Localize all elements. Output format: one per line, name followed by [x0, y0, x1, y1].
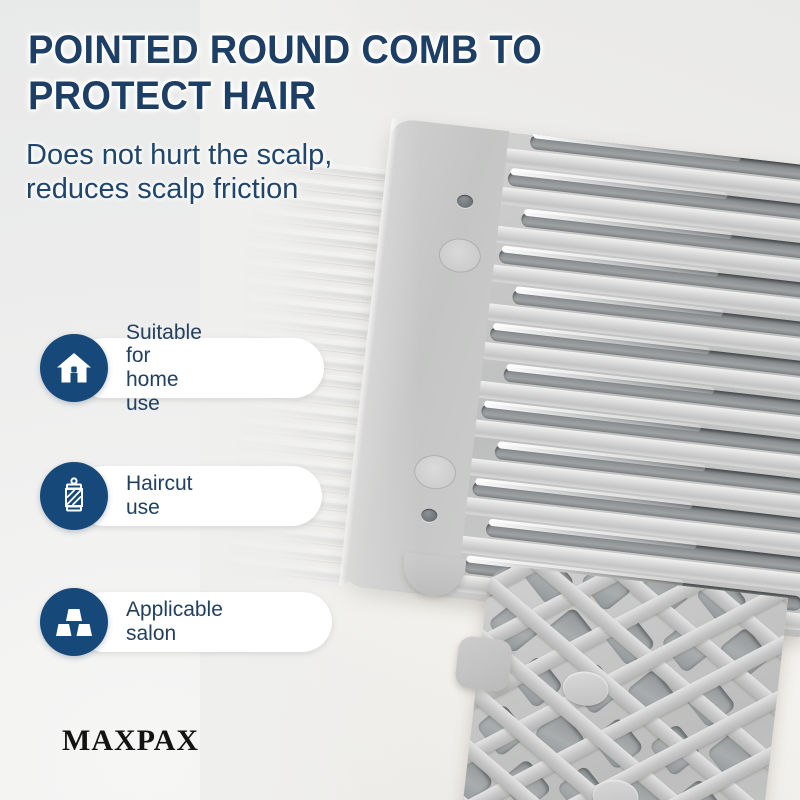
feature-icon-circle [40, 462, 108, 530]
house-icon [56, 351, 92, 385]
feature-label: Suitable for home use [126, 334, 202, 402]
barber-pole-icon [58, 477, 90, 515]
feature-label: Applicable salon [126, 588, 223, 656]
feature-icon-circle [40, 588, 108, 656]
handle-tab [454, 635, 514, 693]
comb-slots [456, 131, 800, 638]
feature-label: Haircut use [126, 462, 193, 530]
brand-logo: MAXPAX [62, 724, 199, 758]
page-title: POINTED ROUND COMB TO PROTECT HAIR [28, 28, 598, 119]
product-marketing-image: POINTED ROUND COMB TO PROTECT HAIR Does … [0, 0, 800, 800]
subtitle: Does not hurt the scalp, reduces scalp f… [26, 138, 426, 206]
feature-icon-circle [40, 334, 108, 402]
salon-stack-icon [55, 606, 93, 638]
product-photo [0, 0, 800, 800]
feature-pill [74, 466, 322, 526]
